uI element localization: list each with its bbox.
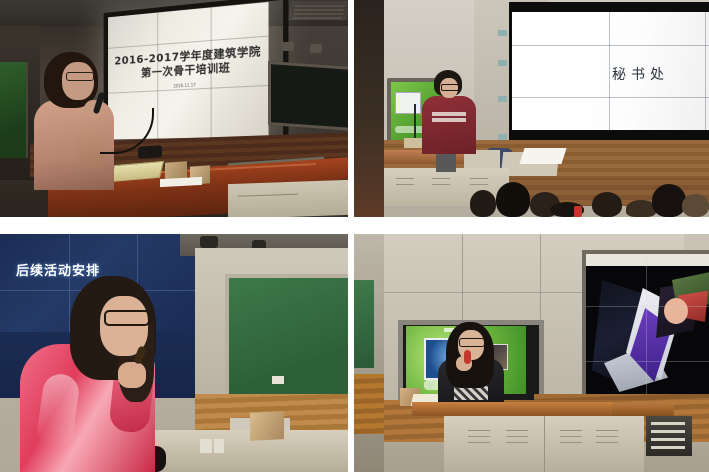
wall-speaker-icon (310, 44, 322, 53)
wall-marker (498, 96, 507, 102)
eyeglasses-icon (459, 338, 485, 347)
eyeglasses-icon (441, 84, 459, 91)
chalk-tray (272, 376, 284, 384)
ceiling-camera-icon (200, 236, 218, 248)
equipment-rack (646, 416, 692, 456)
photo-panel-bottom-left: 后续活动安排 (0, 234, 348, 472)
cardboard-box (250, 411, 284, 441)
photo-collage: 2016-2017学年度建筑学院 第一次骨干培训班 2016.11.17 (0, 0, 709, 472)
small-object (200, 439, 212, 453)
wall-panel (474, 0, 514, 160)
cabinet-seam (544, 416, 545, 472)
wall-marker (498, 60, 507, 66)
microphone-icon (464, 350, 471, 364)
led-top-band (586, 254, 709, 266)
paper-sheet (519, 148, 566, 164)
dark-left-edge (354, 0, 384, 217)
projected-text: 秘书处 (612, 64, 669, 84)
photo-panel-top-right: 秘书处 (354, 0, 709, 217)
side-cabinet (228, 180, 348, 217)
photo-panel-top-left: 2016-2017学年度建筑学院 第一次骨干培训班 2016.11.17 (0, 0, 348, 217)
wall-speaker-icon (282, 42, 294, 51)
wood-paneling-left (354, 374, 386, 434)
monitor-window (395, 92, 421, 114)
small-object (214, 439, 224, 453)
ceiling-vent-icon (288, 2, 348, 20)
led-image-shape (664, 298, 688, 324)
eyeglasses-icon (104, 310, 150, 326)
audience-row (466, 176, 709, 217)
hoodie-graphic (432, 112, 466, 124)
led-video-wall (586, 254, 709, 398)
chalkboard (268, 61, 348, 131)
green-chalkboard-edge (354, 280, 374, 368)
green-wall-panel (0, 62, 28, 158)
speaker-hand (118, 362, 146, 388)
podium-front (150, 430, 348, 472)
green-chalkboard (225, 274, 348, 400)
projection-screen: 秘书处 (512, 12, 709, 130)
presenter-body (422, 96, 476, 154)
lectern-surface (412, 402, 612, 416)
eyeglasses-icon (66, 72, 94, 81)
microphone-base (138, 145, 162, 159)
microphone-stand (414, 104, 416, 138)
speaker-face (62, 62, 94, 100)
video-wall-text: 后续活动安排 (16, 260, 100, 279)
photo-panel-bottom-right (354, 234, 709, 472)
wall-marker (498, 30, 507, 36)
